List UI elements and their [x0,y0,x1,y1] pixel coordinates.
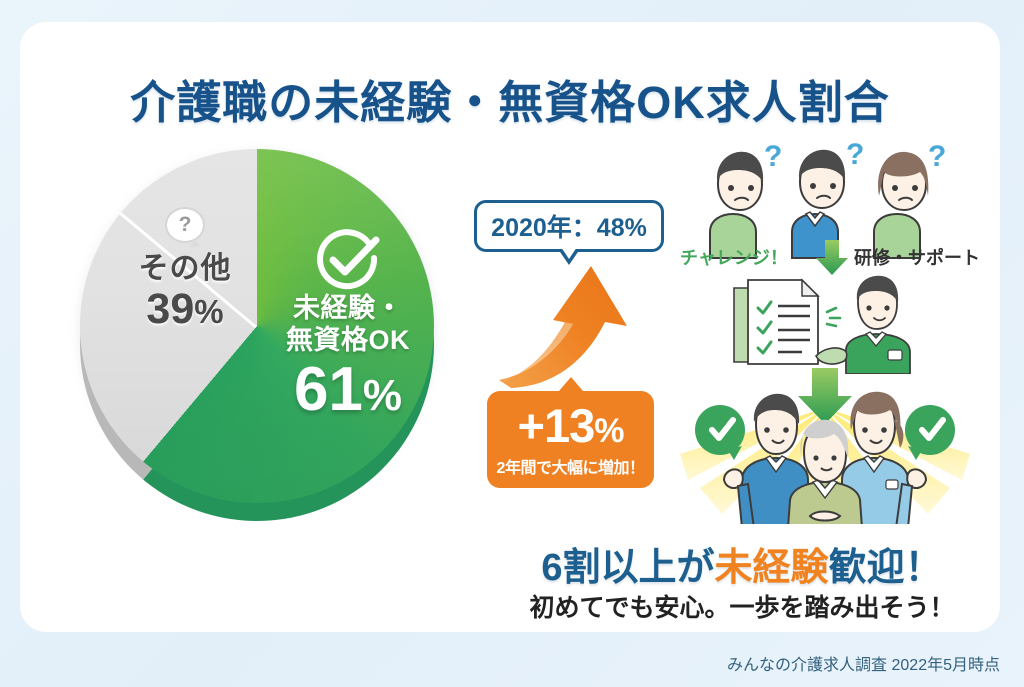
pie-label-other-value: 39% [110,285,260,334]
previous-year-callout: 2020年：48% [474,200,664,252]
source-footer: みんなの介護求人調査 2022年5月時点 [727,651,1000,675]
svg-text:?: ? [846,138,864,171]
green-down-arrow-icon [813,238,851,276]
pie-label-green-value: 61% [258,359,438,421]
delta-box: +13% 2年間で大幅に増加！ [487,391,654,488]
svg-text:?: ? [928,140,946,173]
other-value: 39 [146,285,194,333]
pie-label-green: 未経験・ 無資格OK 61% [258,293,438,421]
pie-label-other-text: その他 [110,243,260,287]
checklist-document-icon [720,272,930,374]
headline-part1: 6割以上が [541,547,714,589]
pie-label-other: その他 39% [110,243,260,334]
pie-label-green-line2: 無資格OK [258,325,438,357]
pie-label-green-line1: 未経験・ [258,293,438,325]
caregivers-with-elderly-icon [680,368,970,528]
headline: 6割以上が未経験歓迎！ [484,536,1000,591]
infographic-root: 介護職の未経験・無資格OK求人割合 ? その他 39% 未経験・ 無資格OK 6… [0,0,1024,687]
challenge-label: チャレンジ！ [680,244,788,270]
headline-part3: 歓迎！ [829,547,943,589]
page-title: 介護職の未経験・無資格OK求人割合 [20,66,1000,131]
previous-year-callout-text: 2020年：48% [491,208,647,244]
delta-note: 2年間で大幅に増加！ [497,454,645,478]
svg-text:?: ? [764,140,782,173]
delta-value-row: +13% [518,402,624,449]
delta-percent: % [594,412,623,450]
flow-label-row: チャレンジ！ 研修・サポート [680,240,980,274]
check-circle-icon [312,225,382,295]
green-value: 61 [294,355,363,424]
green-percent: % [363,371,402,420]
other-percent: % [194,293,223,330]
question-bubble-icon: ? [165,207,205,243]
question-mark-glyph: ? [179,213,192,237]
headline-part2: 未経験 [715,547,829,589]
growth-arrow-icon [495,262,655,392]
pie-chart: ? その他 39% 未経験・ 無資格OK 61% [62,125,462,555]
support-label: 研修・サポート [854,244,980,270]
delta-value: +13 [518,399,595,452]
sub-headline: 初めてでも安心。一歩を踏み出そう！ [484,588,1000,624]
